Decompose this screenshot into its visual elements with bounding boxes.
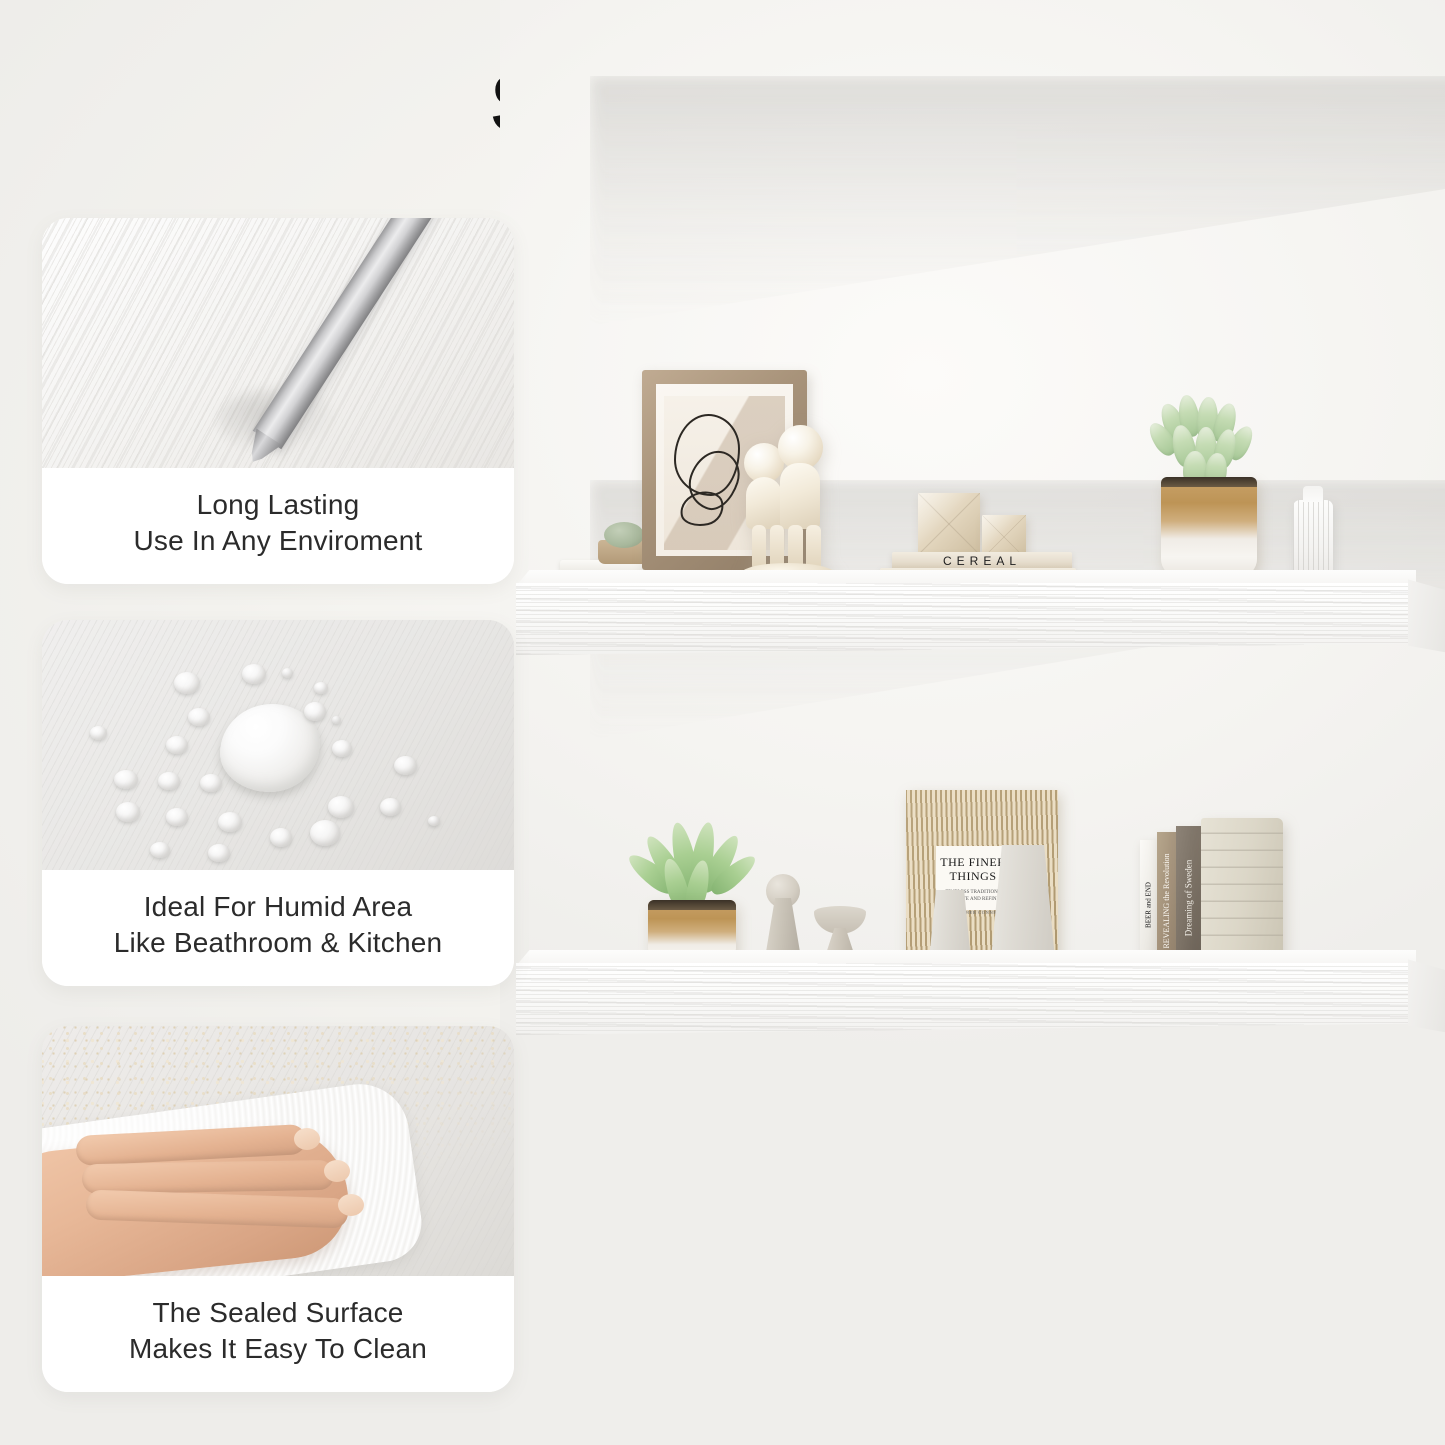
book-spine-revolution-title: REVEALING the Revolution bbox=[1163, 853, 1171, 948]
shelf-top-side bbox=[1408, 577, 1445, 655]
water-droplet bbox=[242, 664, 266, 684]
product-feature-poster: SEALED FOR MOISTURE PROTECTION bbox=[0, 0, 1445, 1445]
shelf-scene: CEREAL UNION bbox=[500, 0, 1445, 1445]
pearl-couple-figurine bbox=[738, 415, 848, 580]
fingertip bbox=[294, 1128, 320, 1150]
shelf-top-face bbox=[516, 583, 1416, 655]
shelf-bottom-side bbox=[1408, 957, 1445, 1035]
book-cereal-title: CEREAL bbox=[943, 555, 1021, 567]
pyramid-decor-block-large bbox=[918, 493, 980, 555]
water-droplet bbox=[332, 716, 341, 724]
water-droplet bbox=[200, 774, 222, 792]
water-droplet bbox=[270, 828, 292, 847]
water-droplet bbox=[90, 726, 107, 740]
fingertip bbox=[338, 1194, 364, 1216]
book-spine-sweden-title: Dreaming of Sweden bbox=[1184, 860, 1193, 936]
water-droplet bbox=[380, 798, 401, 816]
book-spine-revolution: REVEALING the Revolution bbox=[1157, 832, 1176, 970]
water-droplet bbox=[188, 708, 210, 726]
water-droplet bbox=[304, 702, 326, 721]
feature-caption-easy-clean: The Sealed Surface Makes It Easy To Clea… bbox=[42, 1276, 514, 1392]
feature-card-easy-clean: The Sealed Surface Makes It Easy To Clea… bbox=[42, 1026, 514, 1392]
water-droplet bbox=[332, 740, 352, 757]
book-spine-beer-end-title: BEER and END bbox=[1145, 882, 1152, 928]
water-droplet bbox=[314, 682, 328, 694]
top-shelf-wall-shadow bbox=[590, 76, 1445, 326]
agave-plant bbox=[628, 820, 768, 970]
water-droplet bbox=[310, 820, 340, 846]
water-droplet bbox=[174, 672, 200, 694]
floating-shelf-top bbox=[516, 583, 1416, 655]
water-droplet bbox=[428, 816, 440, 826]
feature-caption-long-lasting: Long Lasting Use In Any Enviroment bbox=[42, 468, 514, 584]
water-droplet bbox=[114, 770, 138, 789]
water-droplet bbox=[166, 808, 188, 826]
water-droplet bbox=[166, 736, 188, 754]
water-droplet bbox=[116, 802, 140, 822]
shelf-bottom-face bbox=[516, 963, 1416, 1035]
hand-wiping-crumbs-with-towel-photo bbox=[42, 1026, 514, 1276]
feature-card-long-lasting: Long Lasting Use In Any Enviroment bbox=[42, 218, 514, 584]
ribbed-white-vase bbox=[1293, 500, 1333, 582]
gold-ombre-pot bbox=[1161, 477, 1257, 577]
finger bbox=[82, 1160, 334, 1194]
water-droplet bbox=[218, 812, 242, 832]
thick-cream-book bbox=[1201, 818, 1283, 970]
floating-shelf-bottom bbox=[516, 963, 1416, 1035]
water-droplet bbox=[158, 772, 180, 790]
water-droplet bbox=[150, 842, 170, 858]
water-droplet bbox=[394, 756, 417, 775]
succulent-plant bbox=[1145, 395, 1275, 585]
screwdriver-on-white-woodgrain-photo bbox=[42, 218, 514, 468]
water-droplets-beading-photo bbox=[42, 620, 514, 870]
fingertip bbox=[324, 1160, 350, 1182]
book-spine-sweden: Dreaming of Sweden bbox=[1176, 826, 1201, 970]
feature-caption-humid-area: Ideal For Humid Area Like Beathroom & Ki… bbox=[42, 870, 514, 986]
green-gourd-icon bbox=[604, 522, 644, 548]
feature-card-humid-area: Ideal For Humid Area Like Beathroom & Ki… bbox=[42, 620, 514, 986]
pot-soil bbox=[1161, 477, 1257, 487]
water-droplet bbox=[328, 796, 354, 818]
agave-pot-soil bbox=[648, 900, 736, 910]
water-droplet bbox=[208, 844, 230, 862]
water-droplet bbox=[282, 668, 293, 678]
